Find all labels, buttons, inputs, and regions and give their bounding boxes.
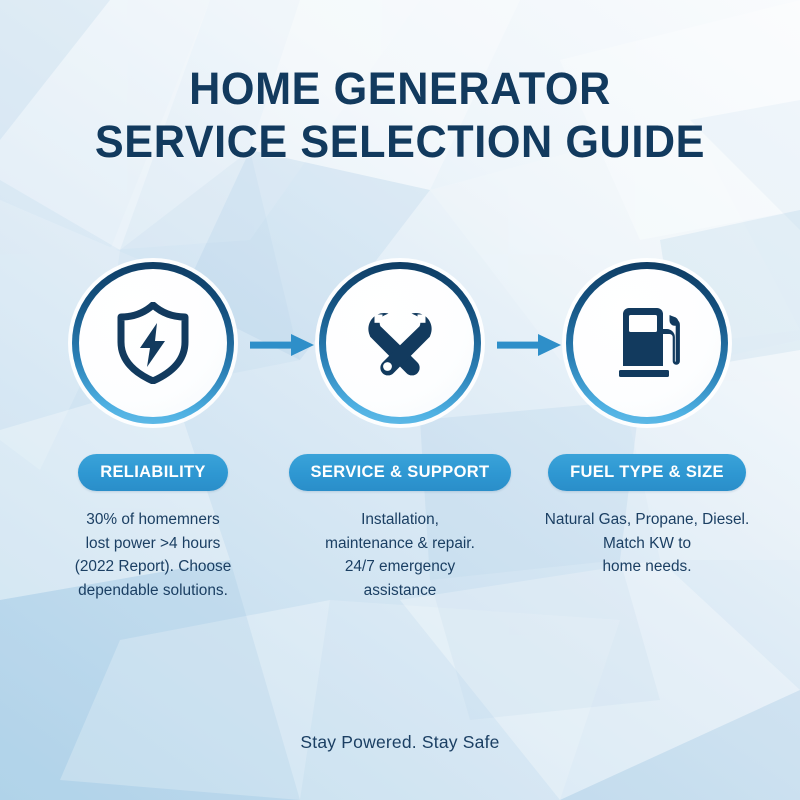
steps-row: RELIABILITY 30% of homemners lost power … <box>0 262 800 622</box>
circle-inner <box>79 269 227 417</box>
step-service-support-body: Installation, maintenance & repair. 24/7… <box>271 508 529 602</box>
shield-bolt-icon <box>114 302 192 384</box>
step-reliability-badge[interactable]: RELIABILITY <box>78 454 228 491</box>
step-reliability-body: 30% of homemners lost power >4 hours (20… <box>24 508 282 602</box>
step-fuel-type-size-body: Natural Gas, Propane, Diesel. Match KW t… <box>518 508 776 579</box>
page-title: HOME GENERATOR SERVICE SELECTION GUIDE <box>0 62 800 168</box>
step-fuel-type-size-circle[interactable] <box>566 262 728 424</box>
step-service-support-badge[interactable]: SERVICE & SUPPORT <box>289 454 512 491</box>
title-line-1: HOME GENERATOR <box>16 62 784 115</box>
circle-inner <box>326 269 474 417</box>
step-fuel-type-size-badge[interactable]: FUEL TYPE & SIZE <box>548 454 746 491</box>
infographic-canvas: HOME GENERATOR SERVICE SELECTION GUIDE R… <box>0 0 800 800</box>
fuel-pump-icon <box>605 301 689 385</box>
footer-tagline: Stay Powered. Stay Safe <box>0 732 800 753</box>
wrench-screwdriver-icon <box>358 301 442 385</box>
arrow-step1-to-step2-icon <box>250 332 316 358</box>
step-reliability[interactable]: RELIABILITY 30% of homemners lost power … <box>24 262 282 602</box>
step-reliability-circle[interactable] <box>72 262 234 424</box>
step-fuel-type-size[interactable]: FUEL TYPE & SIZE Natural Gas, Propane, D… <box>518 262 776 579</box>
title-line-2: SERVICE SELECTION GUIDE <box>16 115 784 168</box>
step-service-support-circle[interactable] <box>319 262 481 424</box>
circle-inner <box>573 269 721 417</box>
step-service-support[interactable]: SERVICE & SUPPORT Installation, maintena… <box>271 262 529 602</box>
arrow-step2-to-step3-icon <box>497 332 563 358</box>
